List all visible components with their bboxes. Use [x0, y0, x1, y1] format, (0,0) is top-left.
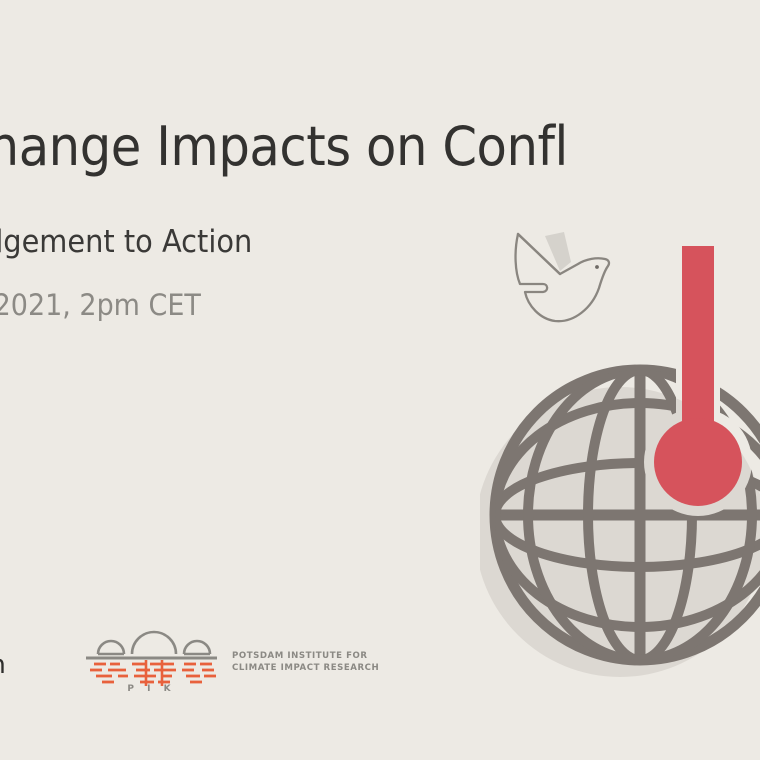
pik-name-line-2: Climate Impact Research: [232, 662, 379, 674]
globe-thermometer-graphic: [480, 240, 760, 690]
pik-name-line-1: Potsdam Institute for: [232, 650, 379, 662]
banner-datetime: ry 2021, 2pm CET: [0, 288, 201, 322]
event-banner: e Change Impacts on Confl owledgement to…: [0, 0, 760, 760]
banner-subtitle: owledgement to Action: [0, 224, 252, 260]
footer-logo-strip: tion: [0, 628, 440, 712]
banner-title: e Change Impacts on Confl: [0, 118, 568, 175]
pik-institute-name: Potsdam Institute for Climate Impact Res…: [232, 650, 379, 674]
pik-acronym-label: P I K: [84, 684, 219, 694]
partner-organisation-label: tion: [0, 650, 6, 680]
